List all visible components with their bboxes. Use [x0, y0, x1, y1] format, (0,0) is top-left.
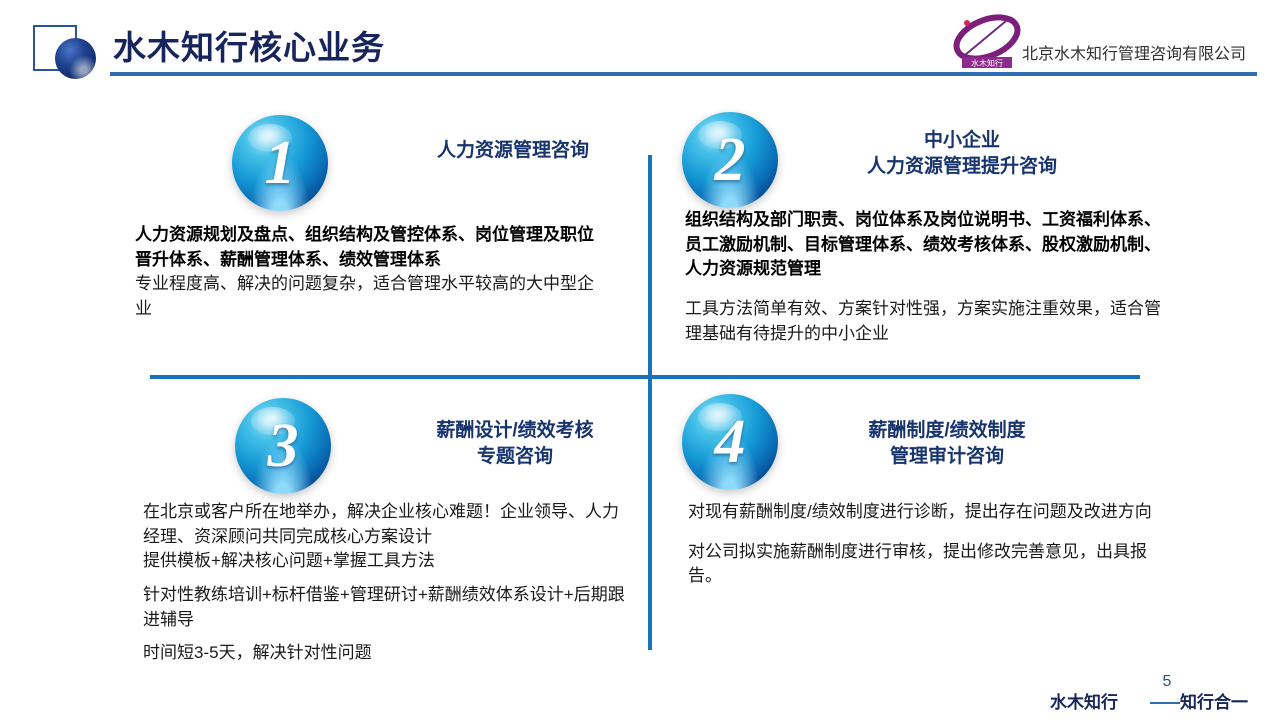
- quadrant-3-body-3: 针对性教练培训+标杆借鉴+管理研讨+薪酬绩效体系设计+后期跟进辅导: [143, 583, 635, 632]
- quadrant-4-heading: 薪酬制度/绩效制度 管理审计咨询: [817, 418, 1077, 469]
- quadrant-3-body-1: 在北京或客户所在地举办，解决企业核心难题！企业领导、人力经理、资深顾问共同完成核…: [143, 500, 635, 549]
- company-name: 北京水木知行管理咨询有限公司: [1022, 40, 1246, 64]
- number-badge-4-label: 4: [682, 394, 778, 490]
- spacer: [143, 574, 635, 583]
- quadrant-1-heading: 人力资源管理咨询: [393, 138, 633, 164]
- navy-sphere-icon: [55, 38, 96, 79]
- horizontal-divider: [150, 375, 1140, 379]
- number-badge-2: 2: [682, 112, 778, 208]
- quadrant-3-body-2: 提供模板+解决核心问题+掌握工具方法: [143, 549, 635, 574]
- quadrant-3: 3 薪酬设计/绩效考核 专题咨询 在北京或客户所在地举办，解决企业核心难题！企业…: [135, 390, 640, 490]
- quadrant-2-text: 组织结构及部门职责、岗位体系及岗位说明书、工资福利体系、员工激励机制、目标管理体…: [685, 208, 1175, 346]
- spacer: [685, 282, 1175, 297]
- page-title: 水木知行核心业务: [113, 21, 385, 69]
- quadrant-2-body-1: 工具方法简单有效、方案针对性强，方案实施注重效果，适合管理基础有待提升的中小企业: [685, 297, 1175, 346]
- company-logo-icon: 水木知行: [948, 14, 1026, 70]
- spacer: [143, 632, 635, 641]
- quadrant-2-heading: 中小企业 人力资源管理提升咨询: [812, 128, 1112, 179]
- slide-header: 水木知行核心业务 水木知行 北京水木知行管理咨询有限公司: [0, 0, 1280, 90]
- quadrant-2-bold-text: 组织结构及部门职责、岗位体系及岗位说明书、工资福利体系、员工激励机制、目标管理体…: [685, 208, 1175, 282]
- footer-brand-left: 水木知行: [1050, 688, 1118, 713]
- quadrant-1-bold-text: 人力资源规划及盘点、组织结构及管控体系、岗位管理及职位晋升体系、薪酬管理体系、绩…: [135, 223, 605, 272]
- svg-text:水木知行: 水木知行: [971, 58, 1003, 68]
- quadrant-2-badge-row: 2 中小企业 人力资源管理提升咨询: [662, 110, 1172, 210]
- number-badge-1-label: 1: [232, 115, 328, 211]
- header-divider-rule: [110, 72, 1257, 76]
- quadrant-4-body-1: 对现有薪酬制度/绩效制度进行诊断，提出存在问题及改进方向: [688, 500, 1168, 525]
- quadrant-1: 1 人力资源管理咨询 人力资源规划及盘点、组织结构及管控体系、岗位管理及职位晋升…: [135, 110, 640, 210]
- quadrant-1-body-1: 专业程度高、解决的问题复杂，适合管理水平较高的大中型企业: [135, 272, 605, 321]
- number-badge-4: 4: [682, 394, 778, 490]
- quadrant-3-body-4: 时间短3-5天，解决针对性问题: [143, 641, 635, 666]
- header-logo-mark: [30, 20, 100, 82]
- page-number-rule: [1150, 702, 1180, 704]
- spacer: [688, 525, 1168, 540]
- page-number: 5: [1154, 673, 1180, 691]
- footer-brand-right: 知行合一: [1180, 688, 1248, 713]
- quadrant-4-badge-row: 4 薪酬制度/绩效制度 管理审计咨询: [662, 390, 1172, 490]
- quadrant-3-badge-row: 3 薪酬设计/绩效考核 专题咨询: [135, 390, 640, 490]
- number-badge-2-label: 2: [682, 112, 778, 208]
- number-badge-1: 1: [232, 115, 328, 211]
- slide-footer: 水木知行 5 知行合一: [1050, 682, 1260, 716]
- quadrant-1-text: 人力资源规划及盘点、组织结构及管控体系、岗位管理及职位晋升体系、薪酬管理体系、绩…: [135, 223, 605, 322]
- quadrant-4-text: 对现有薪酬制度/绩效制度进行诊断，提出存在问题及改进方向 对公司拟实施薪酬制度进…: [688, 500, 1168, 589]
- number-badge-3-label: 3: [235, 398, 331, 494]
- quadrant-2: 2 中小企业 人力资源管理提升咨询 组织结构及部门职责、岗位体系及岗位说明书、工…: [662, 110, 1172, 210]
- quadrant-4: 4 薪酬制度/绩效制度 管理审计咨询 对现有薪酬制度/绩效制度进行诊断，提出存在…: [662, 390, 1172, 490]
- quadrant-4-body-2: 对公司拟实施薪酬制度进行审核，提出修改完善意见，出具报告。: [688, 540, 1168, 589]
- number-badge-3: 3: [235, 398, 331, 494]
- vertical-divider: [648, 155, 652, 650]
- quadrant-3-heading: 薪酬设计/绩效考核 专题咨询: [390, 418, 640, 469]
- quadrant-1-badge-row: 1 人力资源管理咨询: [135, 110, 640, 210]
- quadrant-3-text: 在北京或客户所在地举办，解决企业核心难题！企业领导、人力经理、资深顾问共同完成核…: [143, 500, 635, 666]
